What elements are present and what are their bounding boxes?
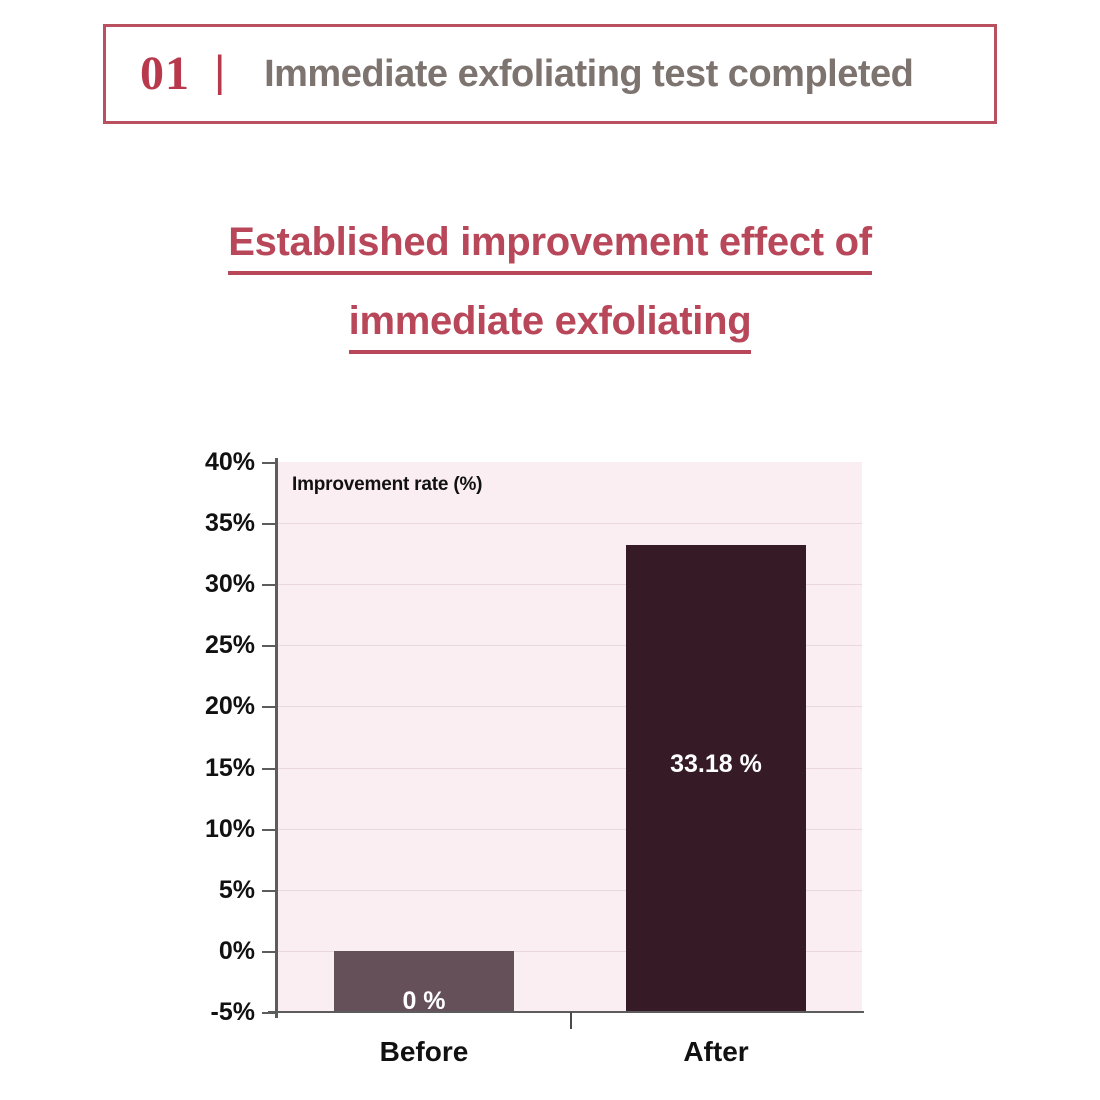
y-axis-line: [275, 458, 278, 1018]
y-axis-tick: [262, 523, 278, 525]
y-axis-tick-label: 25%: [165, 631, 255, 660]
bar-before: 0 %: [334, 951, 514, 1012]
y-axis-tick: [262, 584, 278, 586]
bar-after: 33.18 %: [626, 545, 806, 1012]
bar-value-label: 33.18 %: [626, 750, 806, 779]
plot-area: Improvement rate (%) 0 %33.18 %: [278, 462, 862, 1012]
chart-axis-label: Improvement rate (%): [292, 474, 482, 496]
y-axis-tick-label: 35%: [165, 509, 255, 538]
y-axis-tick: [262, 890, 278, 892]
y-axis-tick-label: 10%: [165, 815, 255, 844]
y-axis-tick: [262, 706, 278, 708]
y-axis-tick: [262, 1012, 278, 1014]
y-axis-tick: [262, 462, 278, 464]
y-axis-tick-label: 40%: [165, 448, 255, 477]
y-axis-labels: 40%35%30%25%20%15%10%5%0%-5%: [160, 0, 255, 1100]
x-axis-tick: [570, 1012, 572, 1029]
y-axis-tick: [262, 829, 278, 831]
y-axis-tick-label: 5%: [165, 876, 255, 905]
y-axis-tick-label: 30%: [165, 570, 255, 599]
y-axis-tick-label: 0%: [165, 937, 255, 966]
gridline: [278, 523, 862, 524]
y-axis-tick-label: 15%: [165, 754, 255, 783]
y-axis-tick-label: -5%: [165, 998, 255, 1027]
y-axis-tick: [262, 951, 278, 953]
x-axis-label-after: After: [606, 1036, 826, 1068]
x-axis-line: [268, 1011, 864, 1013]
y-axis-tick-label: 20%: [165, 692, 255, 721]
y-axis-tick: [262, 645, 278, 647]
y-axis-tick: [262, 768, 278, 770]
x-axis-label-before: Before: [314, 1036, 534, 1068]
bar-chart: Improvement rate (%) 0 %33.18 % 40%35%30…: [0, 0, 1100, 1100]
